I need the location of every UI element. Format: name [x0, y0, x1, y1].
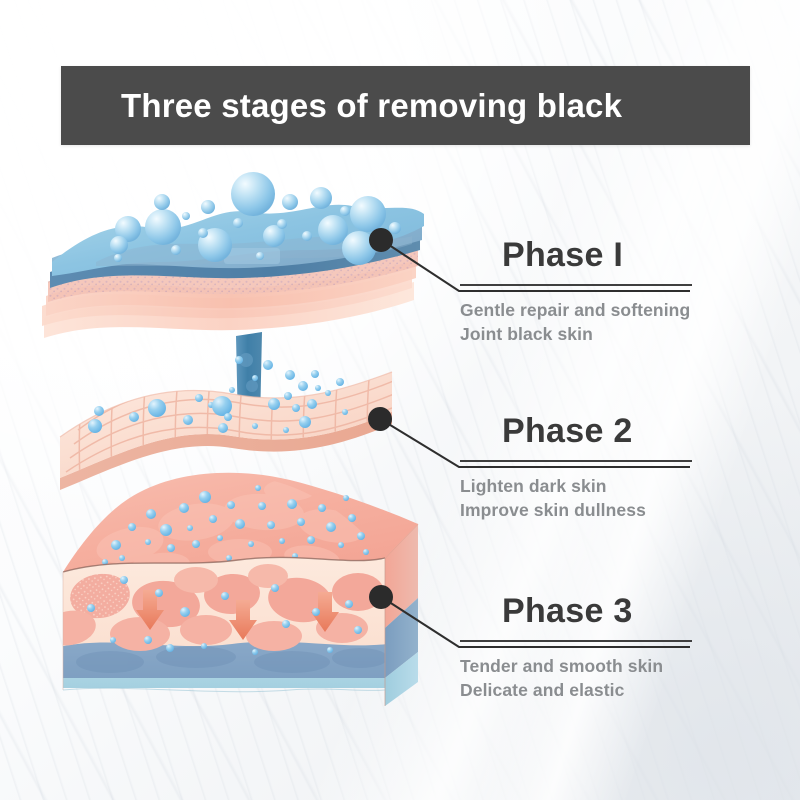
- phase-2-line-2: Improve skin dullness: [460, 498, 760, 522]
- phase-3-line-1: Tender and smooth skin: [460, 654, 760, 678]
- infographic-canvas: Three stages of removing black Phase I G…: [0, 0, 800, 800]
- phase-3-description: Tender and smooth skin Delicate and elas…: [460, 654, 760, 702]
- phase-3-line-2: Delicate and elastic: [460, 678, 760, 702]
- phase-1-block: Phase I Gentle repair and softening Join…: [460, 238, 760, 346]
- phase-2-description: Lighten dark skin Improve skin dullness: [460, 474, 760, 522]
- layer-1-surface-group: [42, 172, 424, 338]
- phase-1-rule: [460, 284, 692, 286]
- phase-3-block: Phase 3 Tender and smooth skin Delicate …: [460, 594, 760, 702]
- page-title: Three stages of removing black: [61, 87, 622, 125]
- title-banner: Three stages of removing black: [61, 66, 750, 145]
- phase-3-rule: [460, 640, 692, 642]
- layer-3-block-group: [41, 473, 418, 708]
- layer-2-mesh-group: [60, 352, 398, 490]
- phase-2-rule: [460, 460, 692, 462]
- phase-2-title: Phase 2: [460, 414, 760, 448]
- phase-3-title: Phase 3: [460, 594, 760, 628]
- phase-2-block: Phase 2 Lighten dark skin Improve skin d…: [460, 414, 760, 522]
- phase-1-description: Gentle repair and softening Joint black …: [460, 298, 760, 346]
- phase-1-line-1: Gentle repair and softening: [460, 298, 760, 322]
- phase-1-title: Phase I: [460, 238, 760, 272]
- phase-1-line-2: Joint black skin: [460, 322, 760, 346]
- phase-2-line-1: Lighten dark skin: [460, 474, 760, 498]
